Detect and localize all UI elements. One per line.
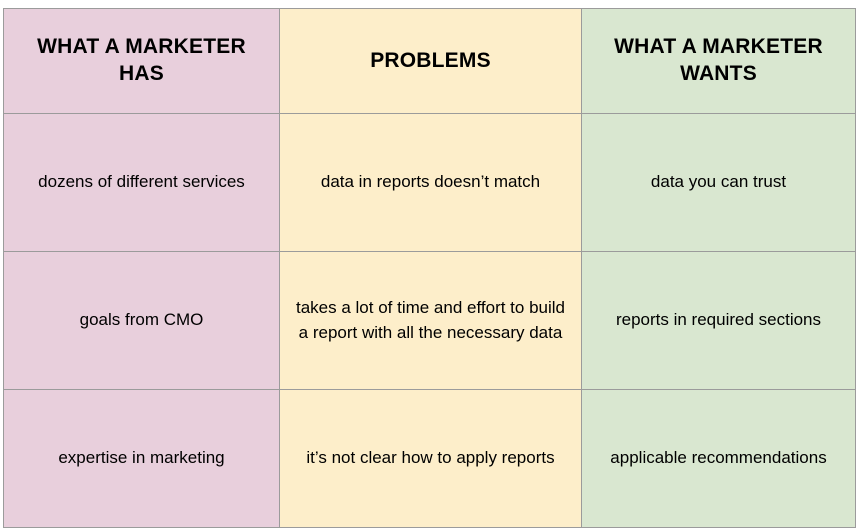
cell-problems-row-2-text: takes a lot of time and effort to build … [290, 296, 571, 344]
table-body: dozens of different services data in rep… [4, 114, 856, 528]
cell-wants-row-1: data you can trust [582, 114, 856, 252]
cell-has-row-2-text: goals from CMO [14, 308, 269, 332]
column-header-problems: PROBLEMS [280, 9, 582, 114]
cell-wants-row-1-text: data you can trust [592, 170, 845, 194]
cell-wants-row-3-text: applicable recommendations [592, 446, 845, 470]
page-root: WHAT A MARKETER HAS PROBLEMS WHAT A MARK… [0, 0, 859, 500]
cell-wants-row-2-text: reports in required sections [592, 308, 845, 332]
cell-problems-row-1-text: data in reports doesn’t match [290, 170, 571, 194]
table-row: dozens of different services data in rep… [4, 114, 856, 252]
column-header-marketer-has-label: WHAT A MARKETER HAS [14, 34, 269, 88]
column-header-problems-label: PROBLEMS [290, 48, 571, 75]
table-header: WHAT A MARKETER HAS PROBLEMS WHAT A MARK… [4, 9, 856, 114]
cell-wants-row-2: reports in required sections [582, 252, 856, 390]
table-row: expertise in marketing it’s not clear ho… [4, 390, 856, 528]
cell-problems-row-2: takes a lot of time and effort to build … [280, 252, 582, 390]
cell-has-row-3-text: expertise in marketing [14, 446, 269, 470]
cell-has-row-3: expertise in marketing [4, 390, 280, 528]
table-row: goals from CMO takes a lot of time and e… [4, 252, 856, 390]
cell-has-row-2: goals from CMO [4, 252, 280, 390]
cell-problems-row-3-text: it’s not clear how to apply reports [290, 446, 571, 470]
cell-problems-row-1: data in reports doesn’t match [280, 114, 582, 252]
table-header-row: WHAT A MARKETER HAS PROBLEMS WHAT A MARK… [4, 9, 856, 114]
column-header-marketer-wants: WHAT A MARKETER WANTS [582, 9, 856, 114]
column-header-marketer-has: WHAT A MARKETER HAS [4, 9, 280, 114]
cell-problems-row-3: it’s not clear how to apply reports [280, 390, 582, 528]
cell-has-row-1: dozens of different services [4, 114, 280, 252]
cell-wants-row-3: applicable recommendations [582, 390, 856, 528]
column-header-marketer-wants-label: WHAT A MARKETER WANTS [592, 34, 845, 88]
cell-has-row-1-text: dozens of different services [14, 170, 269, 194]
comparison-table: WHAT A MARKETER HAS PROBLEMS WHAT A MARK… [3, 8, 856, 528]
